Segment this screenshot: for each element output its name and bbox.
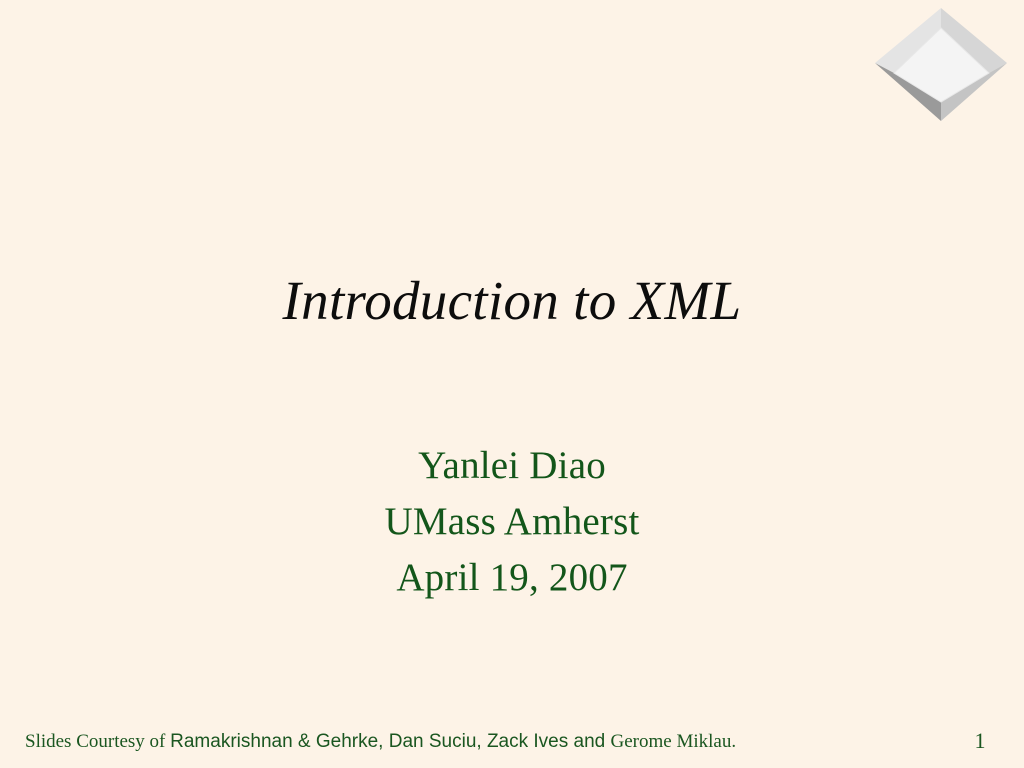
footer-credit: Slides Courtesy of Ramakrishnan & Gehrke… xyxy=(25,731,736,753)
subtitle-line-affiliation: UMass Amherst xyxy=(0,494,1024,550)
subtitle-line-date: April 19, 2007 xyxy=(0,550,1024,606)
subtitle-line-author: Yanlei Diao xyxy=(0,438,1024,494)
footer-credit-prefix: Slides Courtesy of xyxy=(25,731,170,752)
title-block: Introduction to XML xyxy=(0,272,1024,330)
presentation-slide: Introduction to XML Yanlei Diao UMass Am… xyxy=(0,0,1024,768)
diamond-decoration-icon xyxy=(874,7,1008,122)
page-number: 1 xyxy=(960,728,1000,754)
footer-credit-names-serif: Gerome Miklau. xyxy=(611,731,737,752)
page-title: Introduction to XML xyxy=(283,272,742,330)
footer-credit-names-sans: Ramakrishnan & Gehrke, Dan Suciu, Zack I… xyxy=(170,731,610,752)
subtitle-block: Yanlei Diao UMass Amherst April 19, 2007 xyxy=(0,438,1024,606)
